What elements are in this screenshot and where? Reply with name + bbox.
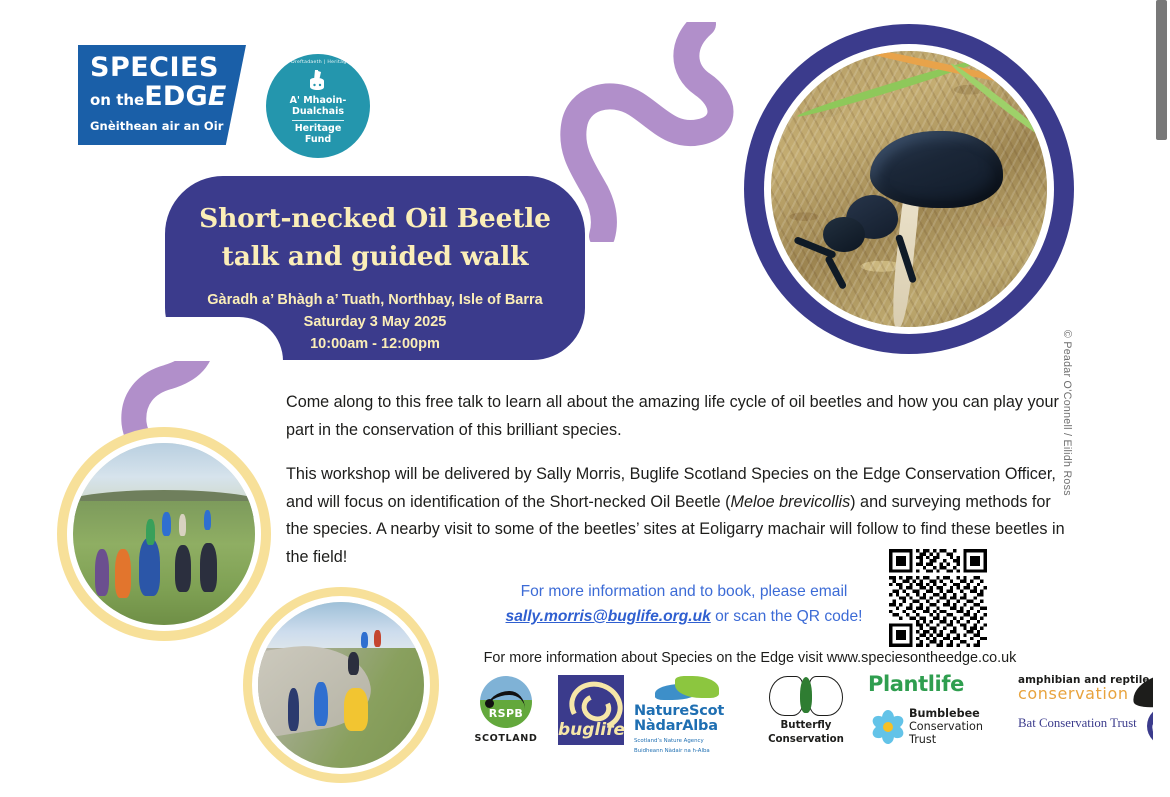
rspb-scotland-label: SCOTLAND (466, 733, 546, 744)
bumblebee-line-3: Trust (909, 734, 1001, 747)
heritage-fund-sub-line-2: Fund (266, 135, 370, 146)
booking-qr-hint: or scan the QR code! (711, 608, 863, 625)
event-time: 10:00am - 12:00pm (165, 333, 585, 355)
amphibian-reptile-conservation-logo: amphibian and reptile conservation (1018, 674, 1170, 703)
butterfly-icon (769, 674, 843, 718)
logo-e-italic: E (208, 81, 227, 112)
heritage-fund-gaelic-name: A' Mhaoin- Dualchais (266, 96, 370, 117)
event-venue: Gàradh a’ Bhàgh a’ Tuath, Northbay, Isle… (165, 289, 585, 311)
event-title-line-1: Short-necked Oil Beetle (165, 200, 585, 238)
event-date: Saturday 3 May 2025 (165, 311, 585, 333)
poster-page: SPECIES on theEDGE Gnèithean air an Oir … (0, 0, 1170, 797)
heritage-fund-divider (292, 120, 344, 121)
surveyor-figure (361, 632, 368, 649)
heritage-fund-arc-text: Cronfa Dreftadaeth | Heritage Fund (266, 60, 370, 65)
walker-figure (162, 512, 171, 536)
beetle-photo (771, 51, 1047, 327)
plantlife-wordmark: Plantlife (868, 672, 964, 696)
website-line: For more information about Species on th… (470, 650, 1030, 666)
naturescot-logo: NatureScot NàdarAlba Scotland’s Nature A… (634, 676, 742, 755)
heritage-fund-english-name: Heritage Fund (266, 124, 370, 145)
rspb-wordmark: RSPB (480, 707, 532, 720)
logo-line-species: SPECIES (90, 54, 246, 81)
crossed-fingers-icon (305, 68, 331, 94)
vertical-scrollbar-thumb[interactable] (1156, 0, 1167, 140)
surveyor-figure (344, 688, 367, 731)
walker-figure (175, 545, 191, 592)
beetle-head (823, 217, 864, 253)
butterfly-left-wing (769, 676, 803, 716)
shore-photo (258, 602, 424, 768)
event-details: Gàradh a’ Bhàgh a’ Tuath, Northbay, Isle… (165, 289, 585, 355)
sky (258, 602, 424, 652)
walker-figure (179, 514, 186, 536)
naturescot-wordmark-en: NatureScot (634, 704, 742, 719)
vertical-scrollbar-track[interactable] (1153, 0, 1170, 797)
event-title-line-2: talk and guided walk (165, 238, 585, 276)
walkers-photo (73, 443, 255, 625)
walker-figure (95, 549, 110, 596)
qr-code[interactable] (889, 549, 987, 647)
bumblebee-wordmark: Bumblebee Conservation Trust (909, 708, 1001, 746)
booking-email-link[interactable]: sally.morris@buglife.org.uk (506, 608, 711, 625)
partner-logos: RSPB SCOTLAND buglife NatureScot NàdarAl… (458, 672, 1083, 762)
logo-edg: EDG (144, 81, 208, 112)
booking-info: For more information and to book, please… (488, 580, 880, 629)
walker-figure (200, 543, 216, 592)
beetle-abdomen (870, 131, 1002, 208)
leaf-icon (655, 676, 721, 702)
booking-line-2: sally.morris@buglife.org.uk or scan the … (488, 605, 880, 630)
bumblebee-line-2: Conservation (909, 721, 1001, 734)
naturescot-wordmark-gd: NàdarAlba (634, 719, 742, 734)
surveyor-figure (348, 652, 360, 675)
buglife-logo: buglife (558, 675, 624, 745)
rspb-scotland-logo: RSPB SCOTLAND (466, 676, 546, 744)
bat-conservation-trust-logo: Bat Conservation Trust (1018, 716, 1170, 731)
bumblebee-conservation-trust-logo: Bumblebee Conservation Trust (871, 708, 1001, 746)
logo-text: SPECIES on theEDGE Gnèithean air an Oir (78, 45, 246, 145)
logo-gaelic-strapline: Gnèithean air an Oir (90, 119, 246, 133)
species-latin-name: Meloe brevicollis (731, 493, 851, 511)
naturescot-strapline-gd: Buidheann Nàdair na h-Alba (634, 748, 742, 755)
surveyor-figure (314, 682, 327, 727)
buglife-wordmark: buglife (558, 720, 624, 740)
booking-line-1: For more information and to book, please… (488, 580, 880, 605)
plantlife-logo: Plantlife (868, 672, 964, 696)
butterfly-wordmark-line-2: Conservation (758, 734, 854, 746)
walker-figure (139, 538, 161, 596)
logo-line-on-the-edge: on theEDGE (90, 83, 246, 111)
butterfly-right-wing (809, 676, 843, 716)
surveyor-figure (288, 688, 300, 731)
logo-on-the: on the (90, 91, 144, 109)
butterfly-conservation-logo: Butterfly Conservation (758, 674, 854, 745)
species-on-the-edge-logo: SPECIES on theEDGE Gnèithean air an Oir (78, 45, 246, 145)
flower-icon (871, 710, 905, 744)
body-copy: Come along to this free talk to learn al… (286, 389, 1070, 572)
naturescot-strapline-en: Scotland’s Nature Agency (634, 738, 742, 745)
walker-figure (146, 519, 155, 544)
bee-icon (883, 722, 893, 732)
walker-figure (115, 549, 131, 598)
butterfly-wordmark-line-1: Butterfly (758, 720, 854, 732)
surveyor-figure (374, 630, 381, 647)
heritage-fund-logo: Cronfa Dreftadaeth | Heritage Fund A' Mh… (266, 54, 370, 158)
headline-bubble: Short-necked Oil Beetle talk and guided … (165, 176, 585, 360)
heritage-fund-name-line-2: Dualchais (266, 107, 370, 118)
butterfly-body (800, 677, 812, 713)
photo-credit: © Peadar O’Connell / Eilidh Ross (1061, 330, 1073, 496)
body-paragraph-1: Come along to this free talk to learn al… (286, 389, 1070, 445)
walker-figure (204, 510, 211, 530)
rspb-disc-icon: RSPB (480, 676, 532, 728)
bumblebee-line-1: Bumblebee (909, 708, 1001, 721)
